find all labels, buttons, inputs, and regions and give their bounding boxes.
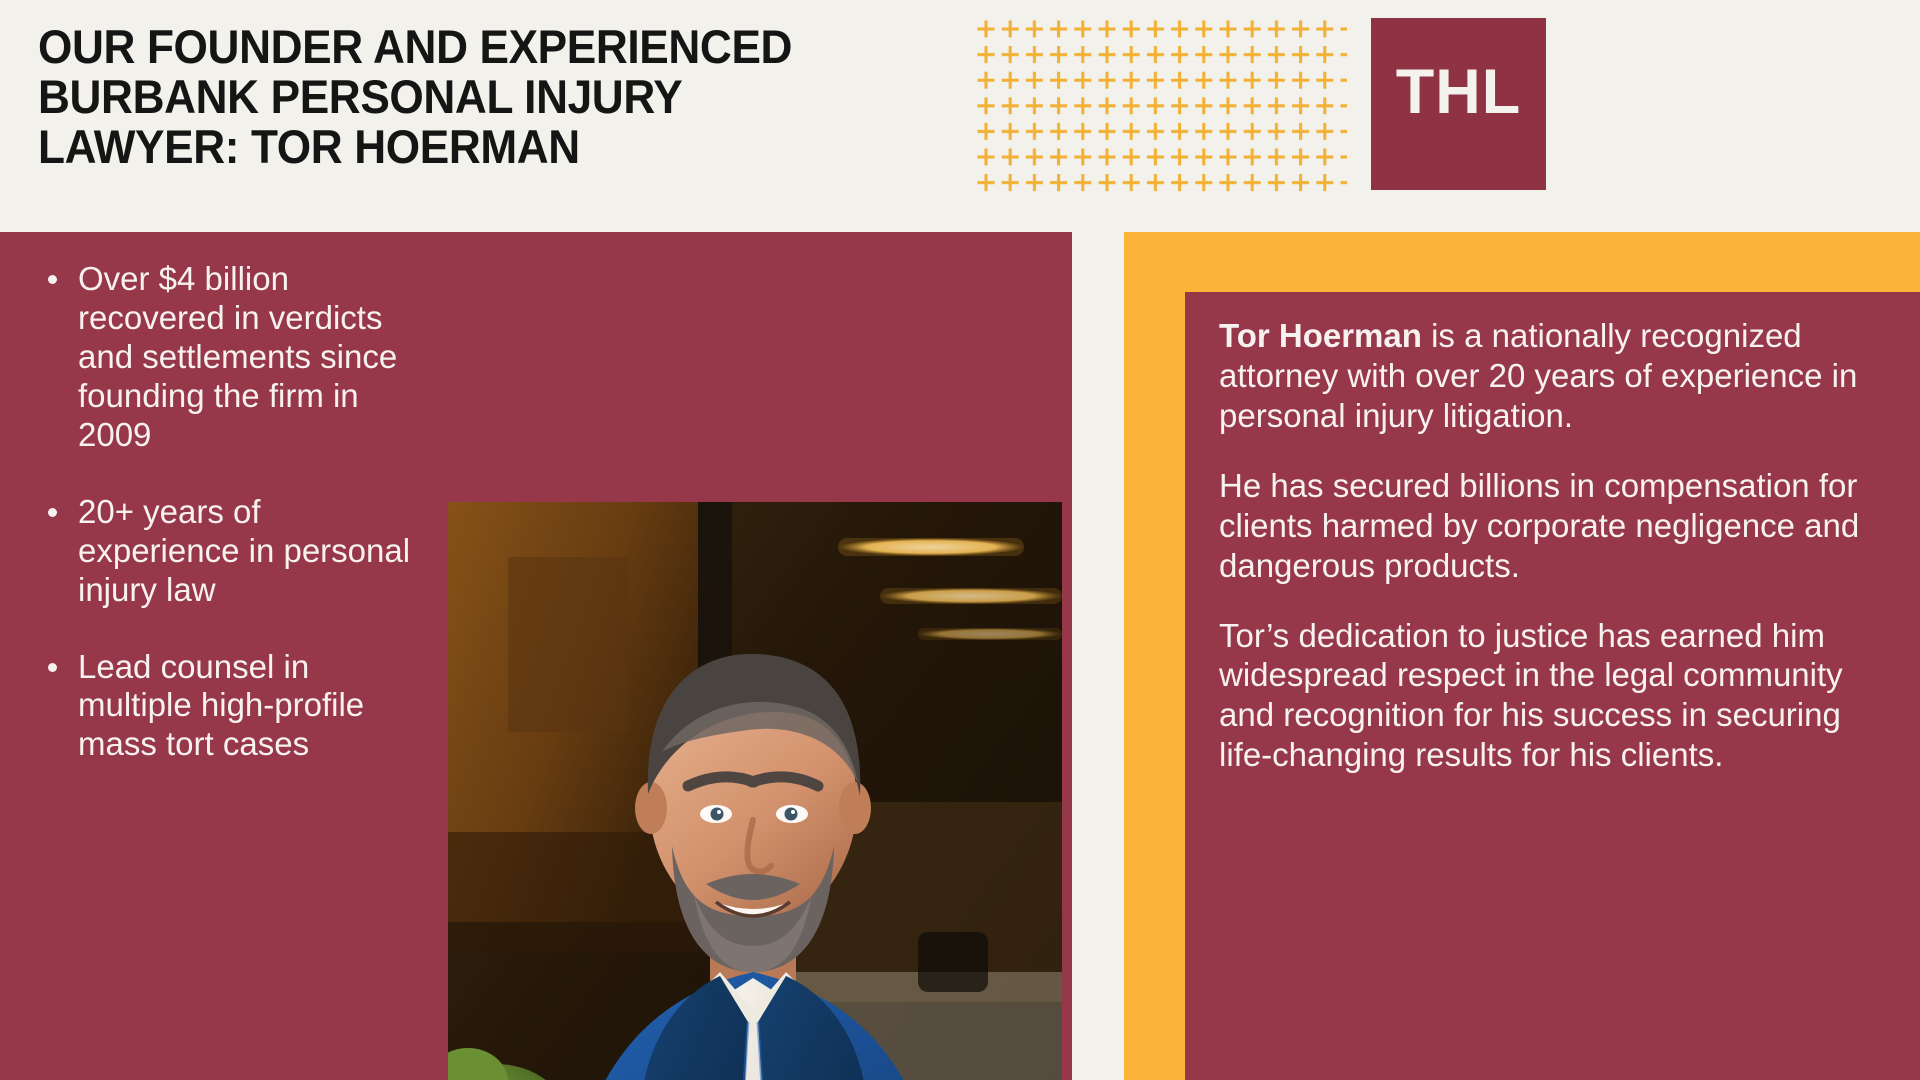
bio-lead-name: Tor Hoerman xyxy=(1219,317,1422,354)
headline-line-1: OUR FOUNDER AND EXPERIENCED xyxy=(38,22,865,72)
list-item: 20+ years of experience in personal inju… xyxy=(36,493,426,610)
bio-card: Tor Hoerman is a nationally recognized a… xyxy=(1185,292,1920,1080)
infographic-canvas: OUR FOUNDER AND EXPERIENCED BURBANK PERS… xyxy=(0,0,1920,1080)
headline-line-3: LAWYER: TOR HOERMAN xyxy=(38,122,865,172)
list-item: Over $4 billion recovered in verdicts an… xyxy=(36,260,426,455)
bio-paragraph-1: Tor Hoerman is a nationally recognized a… xyxy=(1219,316,1890,436)
highlights-list: Over $4 billion recovered in verdicts an… xyxy=(36,260,426,802)
thl-logo: THL xyxy=(1371,18,1546,190)
list-item: Lead counsel in multiple high-profile ma… xyxy=(36,648,426,765)
left-highlights-panel: Over $4 billion recovered in verdicts an… xyxy=(0,232,1072,1080)
headline-line-2: BURBANK PERSONAL INJURY xyxy=(38,72,865,122)
page-title: OUR FOUNDER AND EXPERIENCED BURBANK PERS… xyxy=(38,22,865,171)
bio-paragraph-3: Tor’s dedication to justice has earned h… xyxy=(1219,616,1890,776)
bio-paragraph-2: He has secured billions in compensation … xyxy=(1219,466,1890,586)
founder-portrait-photo xyxy=(448,502,1062,1080)
plus-grid-pattern-icon xyxy=(975,18,1347,194)
thl-logo-text: THL xyxy=(1396,61,1521,124)
